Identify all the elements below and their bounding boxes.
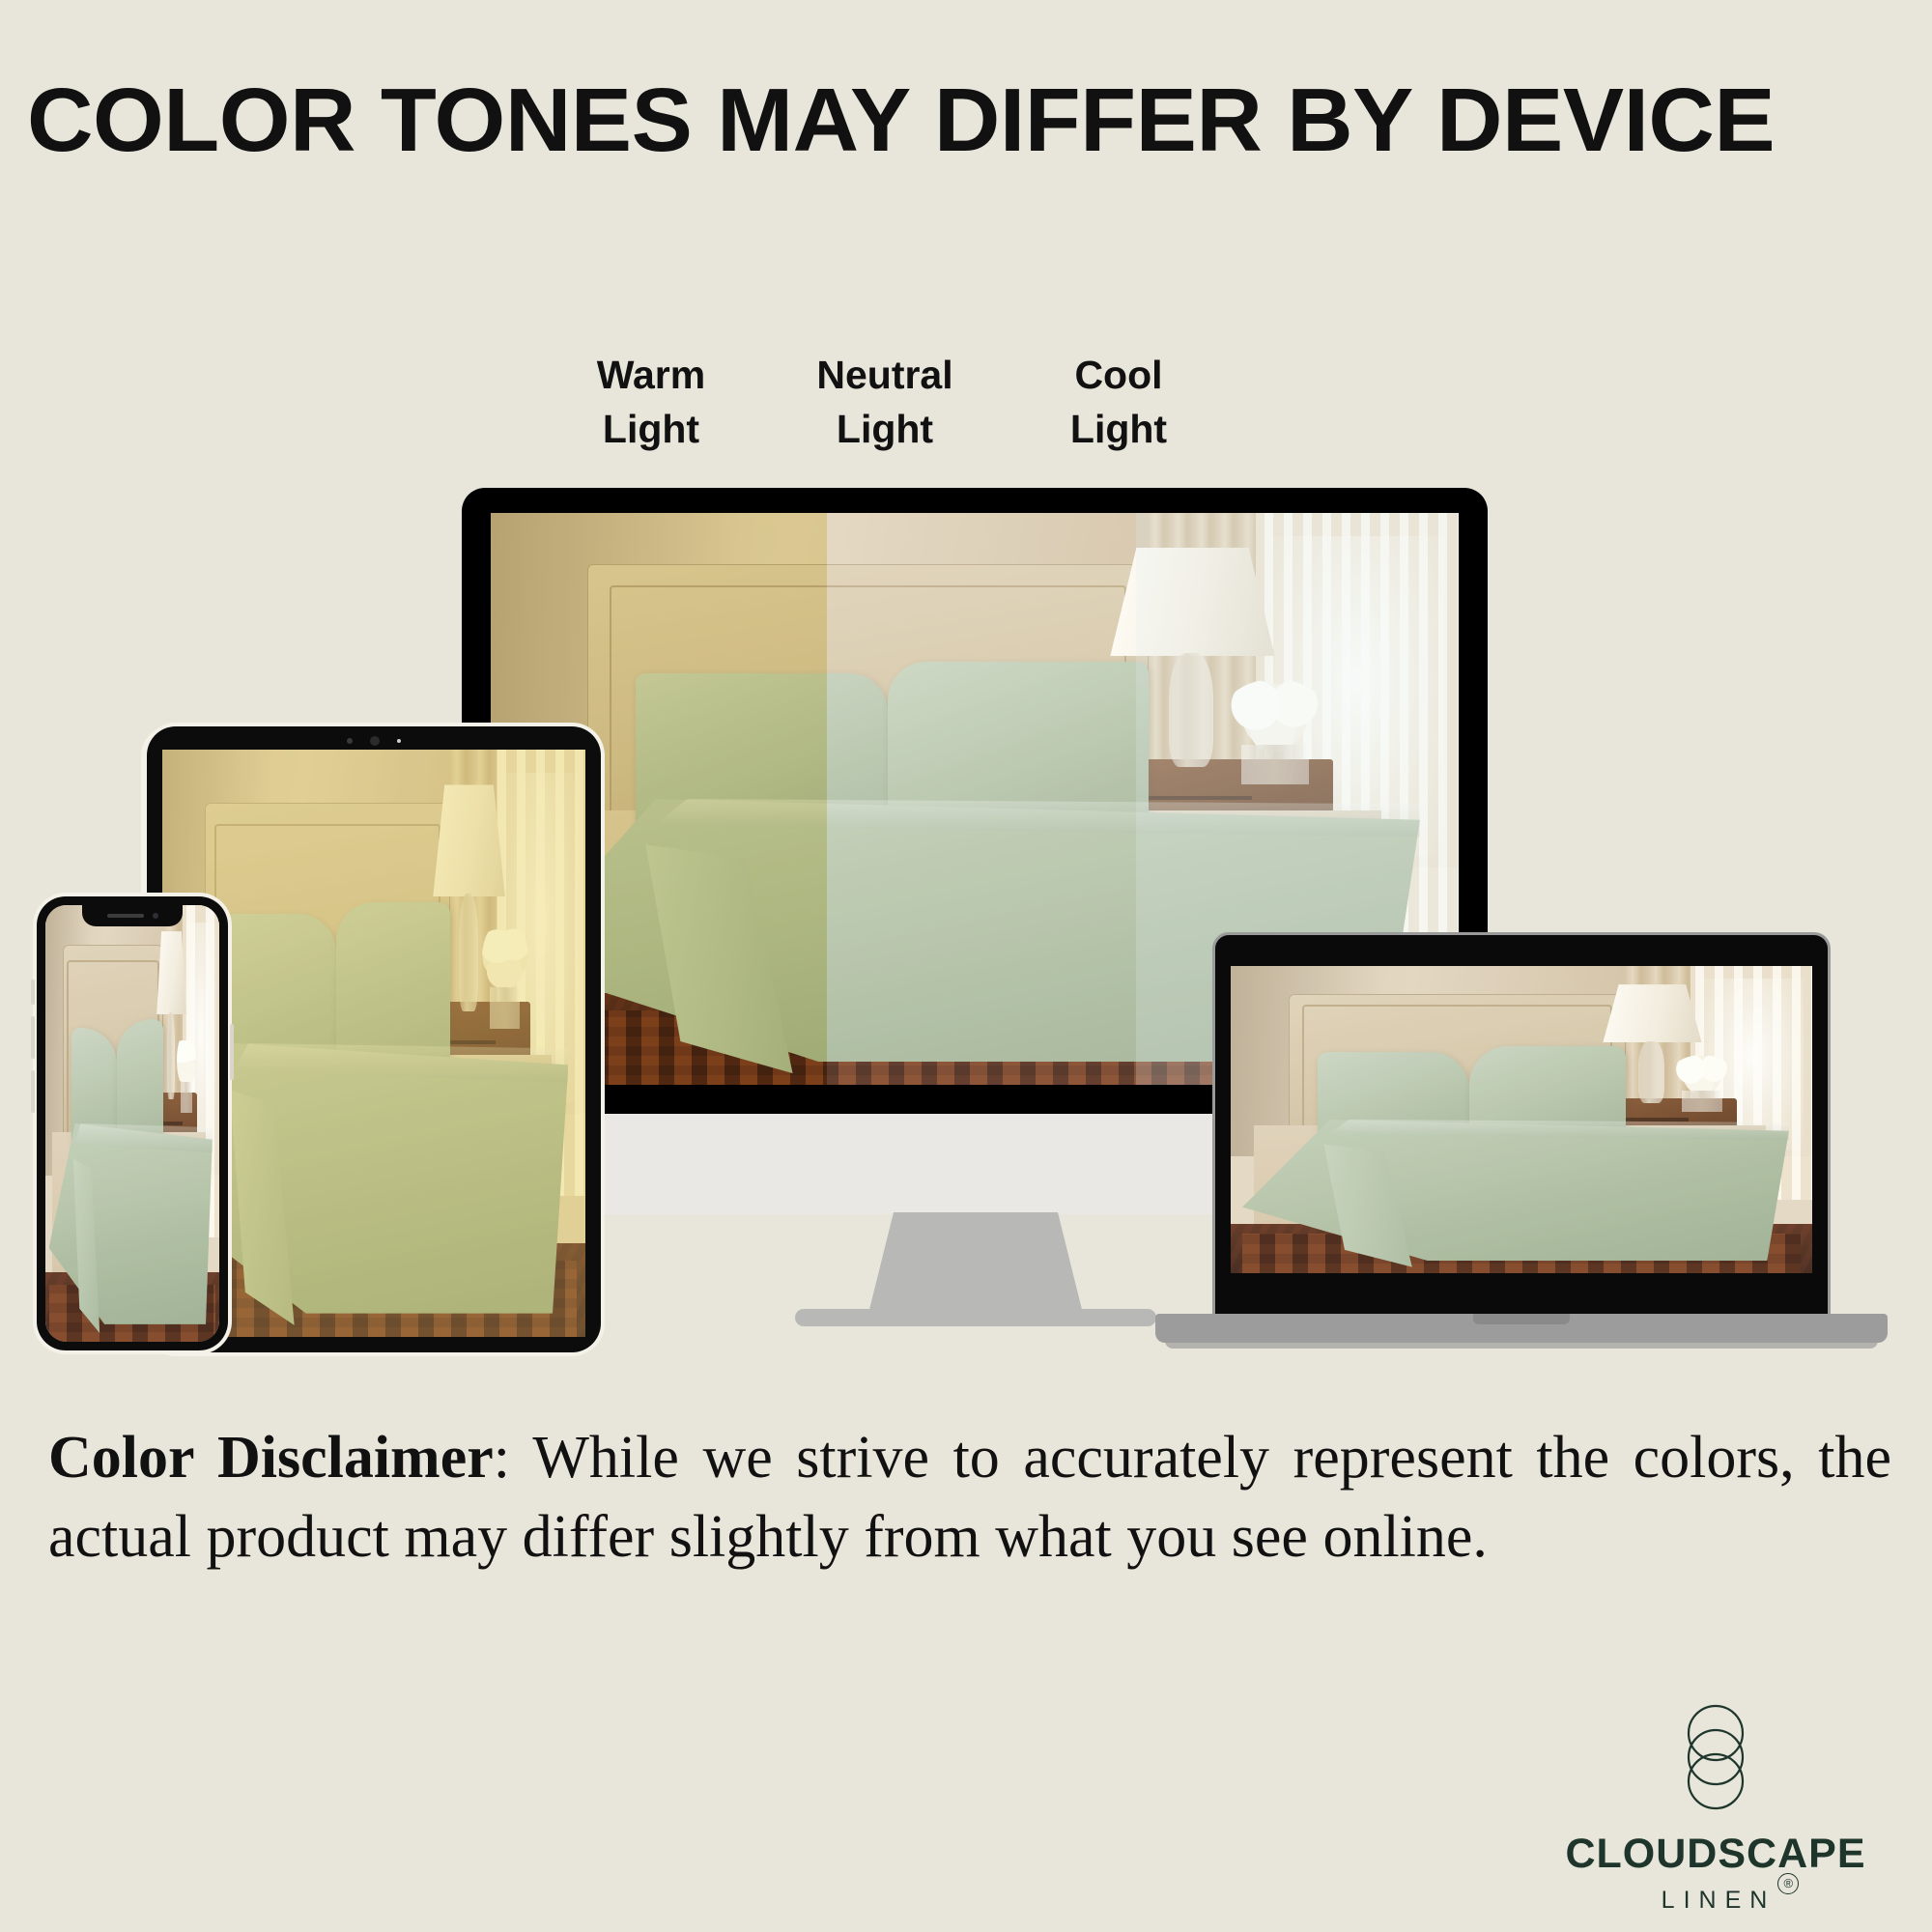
brand-logo: CLOUDSCAPE LINEN ® [1551,1699,1880,1915]
photo-vase [1241,745,1309,784]
tablet-camera-icon [347,736,401,746]
lighting-label-cool-line2: Light [1003,402,1235,456]
color-disclaimer: Color Disclaimer: While we strive to acc… [48,1418,1891,1577]
color-cast-neutral [1231,966,1812,1273]
registered-trademark-icon: ® [1777,1873,1799,1894]
laptop-lid [1215,935,1828,1321]
lighting-label-cool: Cool Light [1003,348,1235,456]
phone-silent-switch[interactable] [31,980,35,1005]
lighting-label-neutral-line2: Light [769,402,1001,456]
laptop-trackpad-notch [1473,1314,1570,1324]
phone-front-camera-icon [153,913,158,919]
lighting-label-neutral-line1: Neutral [816,353,952,397]
photo-flower-bouquet [1222,679,1328,753]
poster-canvas: COLOR TONES MAY DIFFER BY DEVICE Warm Li… [0,0,1932,1932]
phone-volume-up-button[interactable] [31,1016,35,1059]
color-cast-neutral [45,905,219,1342]
laptop [1215,935,1828,1321]
phone-screen [45,905,219,1342]
page-title: COLOR TONES MAY DIFFER BY DEVICE [27,75,1932,164]
brand-wordmark: CLOUDSCAPE [1551,1831,1880,1877]
brand-submark-wrap: LINEN ® [1656,1887,1776,1915]
phone-power-button[interactable] [230,1024,234,1080]
lighting-label-neutral: Neutral Light [769,348,1001,456]
lighting-label-warm-line2: Light [535,402,767,456]
brand-submark: LINEN [1656,1887,1776,1914]
bedroom-product-photo [45,905,219,1342]
smartphone [37,896,228,1350]
photo-lamp-shade [1110,548,1274,656]
photo-lamp-base [1169,653,1212,767]
phone-volume-down-button[interactable] [31,1070,35,1113]
lighting-label-cool-line1: Cool [1074,353,1162,397]
color-disclaimer-lead: Color Disclaimer [48,1425,494,1491]
bedroom-product-photo [1231,966,1812,1273]
phone-notch [82,905,183,926]
phone-speaker-icon [107,914,144,918]
laptop-screen [1231,966,1812,1273]
monitor-stand-foot [795,1309,1156,1326]
lighting-label-warm: Warm Light [535,348,767,456]
lighting-label-warm-line1: Warm [597,353,705,397]
infinity-loop-logo-icon [1674,1699,1757,1815]
laptop-base [1155,1314,1888,1343]
